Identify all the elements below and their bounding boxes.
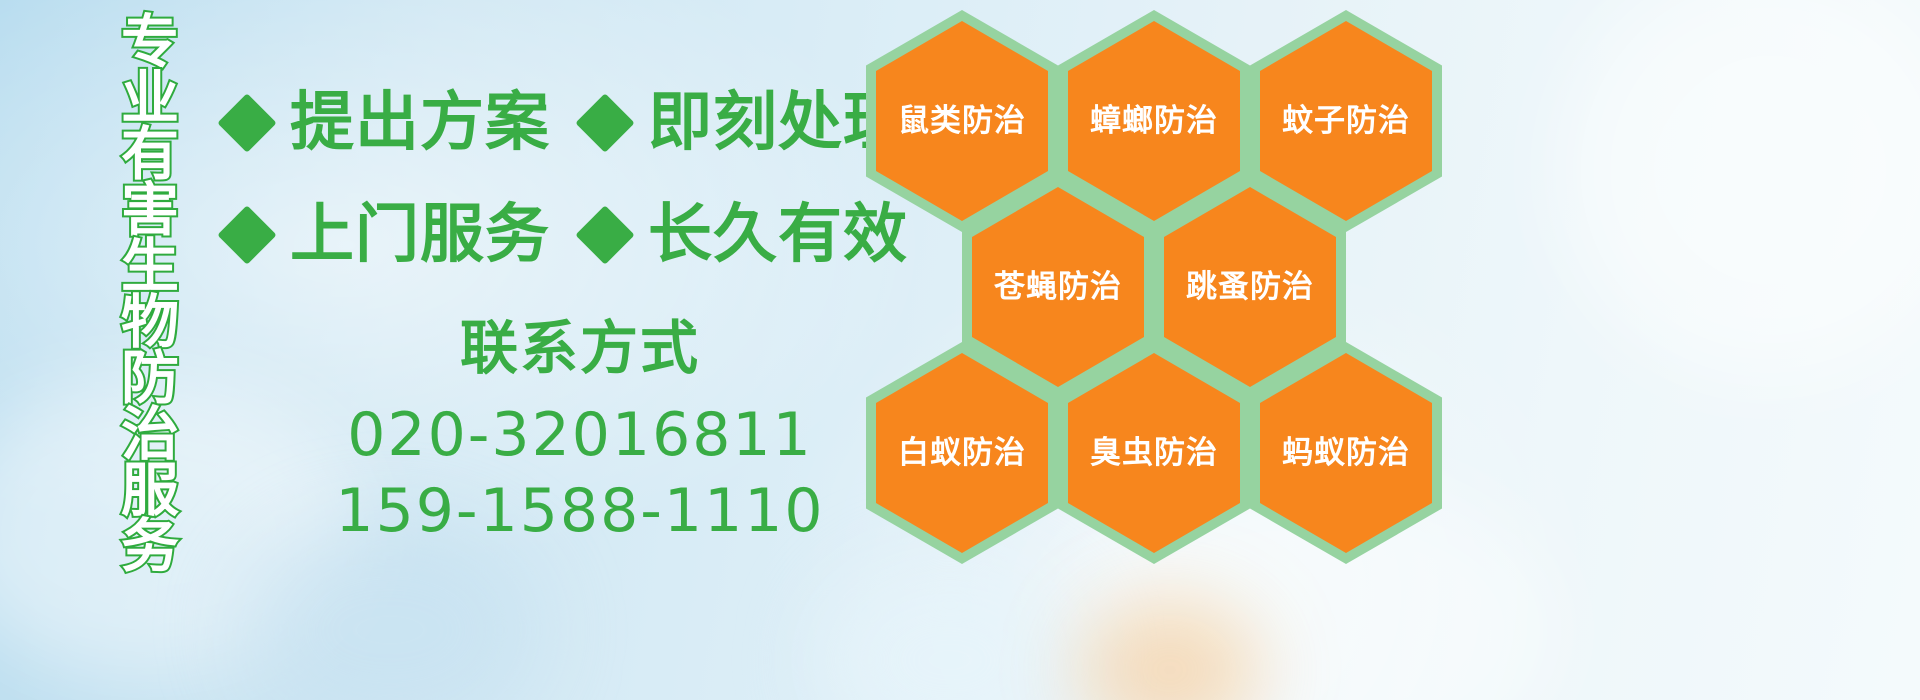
service-hex-label: 臭虫防治 [1090,435,1218,471]
background-blob [820,560,1080,700]
slogan-row-2: 上门服务 长久有效 [226,197,908,273]
vertical-headline-char: 业 [121,70,179,126]
hex-inner: 跳蚤防治 [1164,187,1336,387]
background-blob [1080,600,1260,700]
diamond-bullet-icon [575,205,634,264]
hex-inner: 臭虫防治 [1068,353,1240,553]
service-hex-label: 苍蝇防治 [994,269,1122,305]
vertical-headline-char: 防 [121,350,179,406]
diamond-bullet-icon [217,93,276,152]
slogan-row-1: 提出方案 即刻处理 [226,85,908,161]
vertical-headline-char: 生 [121,238,179,294]
vertical-headline-char: 服 [121,462,179,518]
slogan-item-immediate: 即刻处理 [584,85,908,161]
hex-inner: 苍蝇防治 [972,187,1144,387]
slogan-item-longlasting: 长久有效 [584,197,908,273]
contact-phone-landline[interactable]: 020-32016811 [300,398,860,472]
vertical-headline-char: 有 [121,126,179,182]
background-blob [1560,0,1920,380]
service-hexagon-grid: 鼠类防治 蟑螂防治 蚊子防治 苍蝇防治 跳蚤防治 白蚁防治 [862,0,1462,560]
diamond-bullet-icon [575,93,634,152]
vertical-headline-char: 物 [121,294,179,350]
hex-inner: 鼠类防治 [876,21,1048,221]
hex-inner: 白蚁防治 [876,353,1048,553]
contact-block: 联系方式 020-32016811 159-1588-1110 [300,312,860,548]
service-hex-label: 跳蚤防治 [1186,269,1314,305]
hex-inner: 蚊子防治 [1260,21,1432,221]
service-hex-label: 蟑螂防治 [1090,103,1218,139]
vertical-headline-char: 治 [121,406,179,462]
service-hex-label: 白蚁防治 [898,435,1026,471]
slogan-label: 提出方案 [290,85,550,161]
service-hex-label: 蚊子防治 [1282,103,1410,139]
service-hex-label: 鼠类防治 [898,103,1026,139]
pest-control-banner: 专 业 有 害 生 物 防 治 服 务 提出方案 即刻处理 上门服务 长久有效 [0,0,1920,700]
slogan-label: 上门服务 [290,197,550,273]
service-hex-label: 蚂蚁防治 [1282,435,1410,471]
slogan-item-onsite: 上门服务 [226,197,550,273]
vertical-headline-char: 专 [121,14,179,70]
slogan-item-proposal: 提出方案 [226,85,550,161]
vertical-headline-char: 害 [121,182,179,238]
vertical-headline: 专 业 有 害 生 物 防 治 服 务 [104,14,196,574]
vertical-headline-char: 务 [121,518,179,574]
diamond-bullet-icon [217,205,276,264]
contact-label: 联系方式 [300,312,860,384]
contact-phone-mobile[interactable]: 159-1588-1110 [300,474,860,548]
hex-inner: 蟑螂防治 [1068,21,1240,221]
hex-inner: 蚂蚁防治 [1260,353,1432,553]
